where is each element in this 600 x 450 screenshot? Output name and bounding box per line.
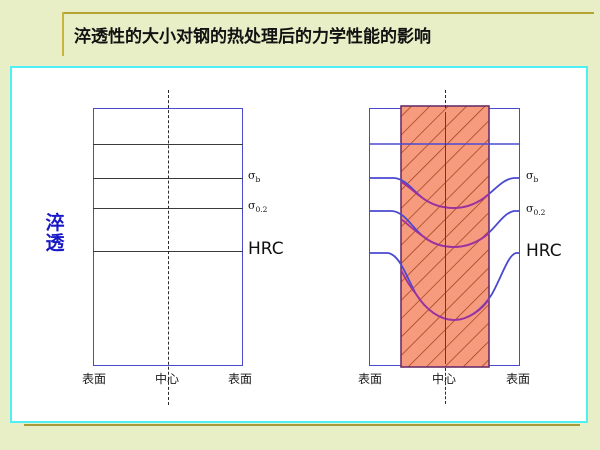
left-diagram-side-label: 淬 透 — [40, 214, 70, 254]
sigma-glyph: σ — [526, 202, 534, 215]
title-top-rule — [62, 12, 594, 14]
left-label-sigma-b: σb — [248, 169, 260, 184]
left-axis-left-surface: 表面 — [82, 370, 106, 387]
right-axis-right-surface: 表面 — [506, 370, 530, 387]
page-title: 淬透性的大小对钢的热处理后的力学性能的影响 — [74, 22, 431, 47]
right-label-sigma-02: σ0.2 — [526, 202, 545, 217]
right-label-hrc: HRC — [526, 241, 562, 261]
right-label-sigma-b: σb — [526, 169, 538, 184]
right-axis-center: 中心 — [432, 370, 456, 387]
right-center-axis-top — [445, 90, 446, 108]
sigma-glyph: σ — [248, 199, 256, 212]
sigma-glyph: σ — [248, 169, 256, 182]
right-axis-left-surface: 表面 — [358, 370, 382, 387]
sigma-02-subscript: 0.2 — [256, 205, 268, 214]
left-label-sigma-02: σ0.2 — [248, 199, 267, 214]
right-diagram-not-through-hardened: 未 淬 透 — [302, 68, 590, 425]
left-center-axis — [168, 90, 169, 405]
left-axis-center: 中心 — [155, 370, 179, 387]
left-diagram-through-hardened: 淬 透 σb σ0.2 HRC 表面 中心 表面 — [12, 68, 302, 425]
sigma-glyph: σ — [526, 169, 534, 182]
sigma-b-subscript: b — [534, 175, 539, 184]
left-axis-right-surface: 表面 — [228, 370, 252, 387]
title-left-rule — [62, 12, 64, 56]
slide-title-bar: 淬透性的大小对钢的热处理后的力学性能的影响 — [0, 12, 600, 58]
left-label-hrc: HRC — [248, 239, 284, 259]
slide-content-panel: 淬 透 σb σ0.2 HRC 表面 中心 表面 未 淬 透 — [10, 66, 588, 423]
sigma-b-subscript: b — [256, 175, 261, 184]
panel-bottom-rule — [24, 424, 580, 426]
sigma-02-subscript: 0.2 — [534, 208, 546, 217]
right-center-axis-core — [445, 112, 446, 364]
